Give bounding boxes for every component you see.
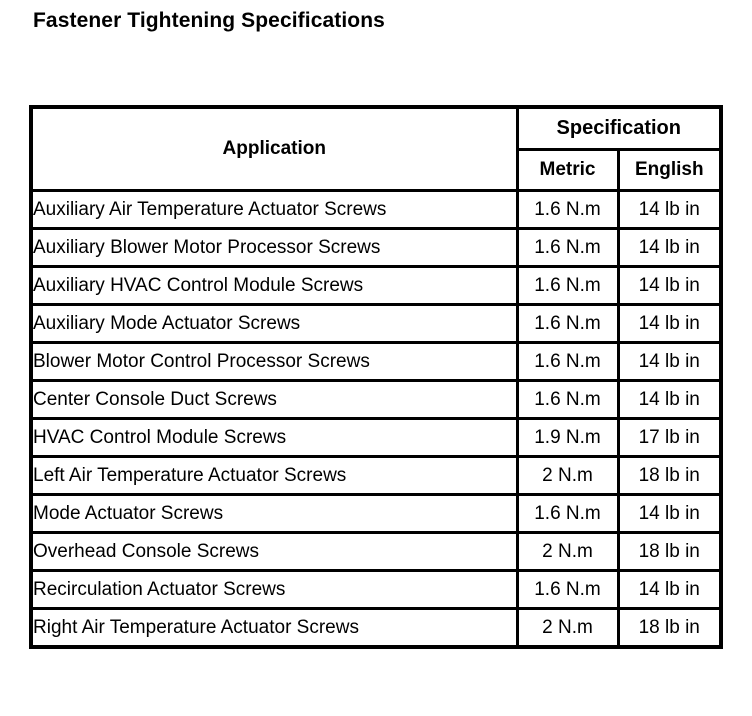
- table-row: Center Console Duct Screws1.6 N.m14 lb i…: [31, 381, 721, 419]
- cell-metric: 2 N.m: [517, 457, 618, 495]
- table-row: HVAC Control Module Screws1.9 N.m17 lb i…: [31, 419, 721, 457]
- cell-metric: 1.6 N.m: [517, 343, 618, 381]
- table-header-row-1: Application Specification: [31, 107, 721, 149]
- table-row: Mode Actuator Screws1.6 N.m14 lb in: [31, 495, 721, 533]
- table-row: Blower Motor Control Processor Screws1.6…: [31, 343, 721, 381]
- cell-english: 18 lb in: [618, 609, 721, 648]
- cell-application: Overhead Console Screws: [31, 533, 517, 571]
- cell-english: 14 lb in: [618, 191, 721, 229]
- cell-metric: 1.6 N.m: [517, 191, 618, 229]
- cell-application: Auxiliary Air Temperature Actuator Screw…: [31, 191, 517, 229]
- cell-application: Recirculation Actuator Screws: [31, 571, 517, 609]
- page-title: Fastener Tightening Specifications: [33, 9, 385, 33]
- cell-english: 14 lb in: [618, 343, 721, 381]
- column-header-metric: Metric: [517, 149, 618, 191]
- column-header-specification: Specification: [517, 107, 721, 149]
- table-row: Auxiliary Air Temperature Actuator Screw…: [31, 191, 721, 229]
- table-row: Auxiliary Blower Motor Processor Screws1…: [31, 229, 721, 267]
- cell-application: Mode Actuator Screws: [31, 495, 517, 533]
- column-header-application: Application: [31, 107, 517, 191]
- cell-english: 14 lb in: [618, 267, 721, 305]
- table-row: Left Air Temperature Actuator Screws2 N.…: [31, 457, 721, 495]
- cell-english: 17 lb in: [618, 419, 721, 457]
- document-page: Fastener Tightening Specifications Appli…: [0, 0, 752, 716]
- cell-metric: 1.6 N.m: [517, 571, 618, 609]
- cell-metric: 1.9 N.m: [517, 419, 618, 457]
- table-row: Recirculation Actuator Screws1.6 N.m14 l…: [31, 571, 721, 609]
- cell-application: Auxiliary Blower Motor Processor Screws: [31, 229, 517, 267]
- table-row: Auxiliary Mode Actuator Screws1.6 N.m14 …: [31, 305, 721, 343]
- cell-english: 14 lb in: [618, 305, 721, 343]
- cell-metric: 1.6 N.m: [517, 267, 618, 305]
- column-header-english: English: [618, 149, 721, 191]
- fastener-specifications-table: Application Specification Metric English…: [29, 105, 723, 649]
- table-row: Right Air Temperature Actuator Screws2 N…: [31, 609, 721, 648]
- spec-table-container: Application Specification Metric English…: [29, 105, 719, 649]
- cell-application: Blower Motor Control Processor Screws: [31, 343, 517, 381]
- cell-application: Auxiliary Mode Actuator Screws: [31, 305, 517, 343]
- table-row: Overhead Console Screws2 N.m18 lb in: [31, 533, 721, 571]
- cell-english: 14 lb in: [618, 571, 721, 609]
- cell-application: HVAC Control Module Screws: [31, 419, 517, 457]
- cell-english: 14 lb in: [618, 495, 721, 533]
- cell-metric: 2 N.m: [517, 533, 618, 571]
- table-header: Application Specification Metric English: [31, 107, 721, 191]
- cell-metric: 1.6 N.m: [517, 381, 618, 419]
- cell-english: 18 lb in: [618, 533, 721, 571]
- cell-application: Right Air Temperature Actuator Screws: [31, 609, 517, 648]
- cell-english: 14 lb in: [618, 229, 721, 267]
- cell-english: 18 lb in: [618, 457, 721, 495]
- table-row: Auxiliary HVAC Control Module Screws1.6 …: [31, 267, 721, 305]
- cell-application: Center Console Duct Screws: [31, 381, 517, 419]
- cell-metric: 1.6 N.m: [517, 305, 618, 343]
- cell-metric: 1.6 N.m: [517, 495, 618, 533]
- cell-metric: 2 N.m: [517, 609, 618, 648]
- cell-english: 14 lb in: [618, 381, 721, 419]
- table-body: Auxiliary Air Temperature Actuator Screw…: [31, 191, 721, 648]
- cell-metric: 1.6 N.m: [517, 229, 618, 267]
- cell-application: Auxiliary HVAC Control Module Screws: [31, 267, 517, 305]
- cell-application: Left Air Temperature Actuator Screws: [31, 457, 517, 495]
